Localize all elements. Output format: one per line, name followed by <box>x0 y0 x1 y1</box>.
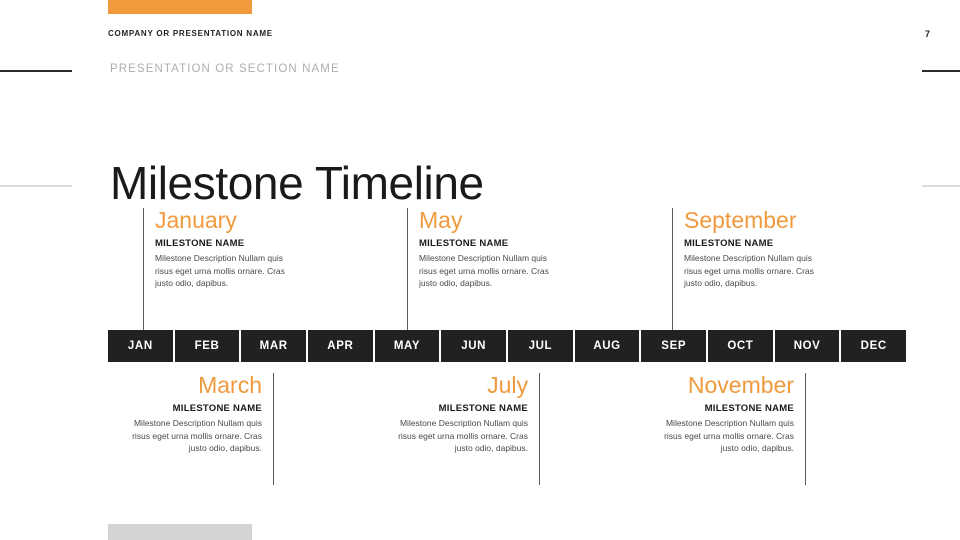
header-rule-right <box>922 70 960 72</box>
timeline-month-apr[interactable]: APR <box>306 330 373 362</box>
milestone-name: MILESTONE NAME <box>388 403 528 416</box>
milestone-month-label: May <box>419 208 559 233</box>
timeline-month-jun[interactable]: JUN <box>439 330 506 362</box>
bottom-accent-bar <box>108 524 252 540</box>
milestone-name: MILESTONE NAME <box>155 238 295 251</box>
timeline-month-aug[interactable]: AUG <box>573 330 640 362</box>
milestone-bottom-november: November MILESTONE NAME Milestone Descri… <box>654 373 806 485</box>
milestone-name: MILESTONE NAME <box>419 238 559 251</box>
milestone-top-january: January MILESTONE NAME Milestone Descrip… <box>143 208 295 330</box>
milestone-month-label: September <box>684 208 824 233</box>
header-rule-left <box>0 70 72 72</box>
timeline-month-dec[interactable]: DEC <box>839 330 906 362</box>
slide-canvas: Company or Presentation Name 7 Presentat… <box>0 0 960 540</box>
milestone-name: MILESTONE NAME <box>654 403 794 416</box>
milestone-top-september: September MILESTONE NAME Milestone Descr… <box>672 208 824 330</box>
timeline-month-oct[interactable]: OCT <box>706 330 773 362</box>
milestone-month-label: January <box>155 208 295 233</box>
milestone-description: Milestone Description Nullam quis risus … <box>122 417 262 456</box>
timeline-month-jan[interactable]: JAN <box>108 330 173 362</box>
timeline-month-may[interactable]: MAY <box>373 330 440 362</box>
title-rule-right <box>922 185 960 187</box>
milestone-month-label: July <box>388 373 528 398</box>
milestone-top-may: May MILESTONE NAME Milestone Description… <box>407 208 559 330</box>
section-name: Presentation or Section Name <box>110 63 340 75</box>
timeline-month-sep[interactable]: SEP <box>639 330 706 362</box>
milestone-month-label: November <box>654 373 794 398</box>
milestone-description: Milestone Description Nullam quis risus … <box>684 252 824 291</box>
timeline-bar: JAN FEB MAR APR MAY JUN JUL AUG SEP OCT … <box>108 330 906 362</box>
timeline-month-feb[interactable]: FEB <box>173 330 240 362</box>
page-title: Milestone Timeline <box>110 160 484 206</box>
milestone-name: MILESTONE NAME <box>684 238 824 251</box>
company-name: Company or Presentation Name <box>108 29 273 38</box>
milestone-description: Milestone Description Nullam quis risus … <box>388 417 528 456</box>
timeline-month-mar[interactable]: MAR <box>239 330 306 362</box>
page-number: 7 <box>925 29 945 39</box>
milestone-description: Milestone Description Nullam quis risus … <box>155 252 295 291</box>
milestone-description: Milestone Description Nullam quis risus … <box>654 417 794 456</box>
milestone-name: MILESTONE NAME <box>122 403 262 416</box>
timeline-month-jul[interactable]: JUL <box>506 330 573 362</box>
milestone-bottom-march: March MILESTONE NAME Milestone Descripti… <box>122 373 274 485</box>
milestone-month-label: March <box>122 373 262 398</box>
milestone-bottom-july: July MILESTONE NAME Milestone Descriptio… <box>388 373 540 485</box>
top-accent-bar <box>108 0 252 14</box>
timeline-month-nov[interactable]: NOV <box>773 330 840 362</box>
milestone-description: Milestone Description Nullam quis risus … <box>419 252 559 291</box>
title-rule-left <box>0 185 72 187</box>
